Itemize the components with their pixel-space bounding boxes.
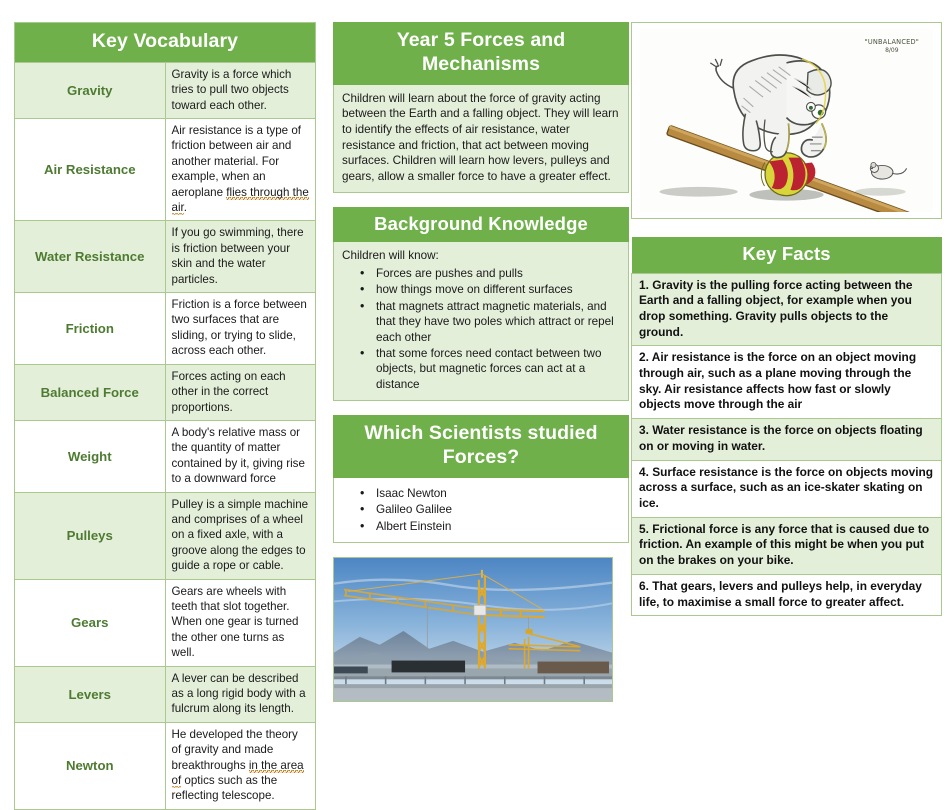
vocab-term: Levers	[15, 666, 166, 722]
list-item: Galileo Galilee	[376, 502, 620, 517]
list-item: Forces are pushes and pulls	[376, 266, 620, 281]
fact-item: 6. That gears, levers and pulleys help, …	[632, 574, 942, 615]
facts-heading: Key Facts	[632, 237, 942, 273]
tower-cranes-photo	[333, 557, 613, 702]
table-row: Air Resistance Air resistance is a type …	[15, 119, 316, 221]
vocab-definition: Forces acting on each other in the corre…	[165, 364, 316, 420]
vocab-definition-tail: .	[184, 201, 187, 214]
background-body: Children will know: Forces are pushes an…	[333, 242, 629, 401]
crane-illustration	[334, 558, 612, 701]
vocab-term: Gears	[15, 579, 166, 666]
vocab-definition: Gears are wheels with teeth that slot to…	[165, 579, 316, 666]
table-row: Friction Friction is a force between two…	[15, 293, 316, 365]
table-row: 4. Surface resistance is the force on ob…	[632, 460, 942, 517]
vocab-definition: A lever can be described as a long rigid…	[165, 666, 316, 722]
vocab-term: Friction	[15, 293, 166, 365]
background-heading: Background Knowledge	[333, 207, 629, 243]
vocab-term: Water Resistance	[15, 221, 166, 293]
scientists-box: Which Scientists studied Forces? Isaac N…	[333, 415, 629, 543]
vocab-term: Gravity	[15, 62, 166, 118]
cartoon-caption: "UNBALANCED" 8/09	[865, 38, 919, 55]
scientists-list: Isaac Newton Galileo Galilee Albert Eins…	[342, 486, 620, 534]
vocab-definition: Air resistance is a type of friction bet…	[165, 119, 316, 221]
table-row: 6. That gears, levers and pulleys help, …	[632, 574, 942, 615]
vocab-definition: Gravity is a force which tries to pull t…	[165, 62, 316, 118]
vocab-definition: If you go swimming, there is friction be…	[165, 221, 316, 293]
vocab-definition: A body's relative mass or the quantity o…	[165, 420, 316, 492]
list-item: Albert Einstein	[376, 519, 620, 534]
table-row: Levers A lever can be described as a lon…	[15, 666, 316, 722]
vocab-term: Newton	[15, 722, 166, 809]
unbalanced-lever-cartoon: "UNBALANCED" 8/09	[631, 22, 942, 219]
table-row: Weight A body's relative mass or the qua…	[15, 420, 316, 492]
table-row: Gears Gears are wheels with teeth that s…	[15, 579, 316, 666]
fact-item: 3. Water resistance is the force on obje…	[632, 419, 942, 460]
vocab-term: Air Resistance	[15, 119, 166, 221]
vocabulary-heading: Key Vocabulary	[15, 23, 315, 62]
table-row: 5. Frictional force is any force that is…	[632, 517, 942, 574]
list-item: Isaac Newton	[376, 486, 620, 501]
facts-header-row: Key Facts	[632, 237, 942, 273]
scientists-heading: Which Scientists studied Forces?	[333, 415, 629, 478]
column-right: "UNBALANCED" 8/09 Key Facts 1. Gravity i…	[629, 0, 947, 657]
list-item: that some forces need contact between tw…	[376, 346, 620, 392]
vocab-definition: Friction is a force between two surfaces…	[165, 293, 316, 365]
key-vocabulary-table: Key Vocabulary Gravity Gravity is a forc…	[14, 22, 316, 810]
vocab-term: Weight	[15, 420, 166, 492]
table-row: 2. Air resistance is the force on an obj…	[632, 346, 942, 419]
table-row: Gravity Gravity is a force which tries t…	[15, 62, 316, 118]
table-row: 3. Water resistance is the force on obje…	[632, 419, 942, 460]
fact-item: 2. Air resistance is the force on an obj…	[632, 346, 942, 419]
fact-item: 5. Frictional force is any force that is…	[632, 517, 942, 574]
list-item: that magnets attract magnetic materials,…	[376, 299, 620, 345]
table-row: Pulleys Pulley is a simple machine and c…	[15, 492, 316, 579]
vocab-term: Pulleys	[15, 492, 166, 579]
crane-photo-canvas	[334, 558, 612, 701]
overview-body: Children will learn about the force of g…	[333, 85, 629, 193]
table-row: Water Resistance If you go swimming, the…	[15, 221, 316, 293]
fact-item: 4. Surface resistance is the force on ob…	[632, 460, 942, 517]
scientists-body: Isaac Newton Galileo Galilee Albert Eins…	[333, 478, 629, 543]
vocab-definition: He developed the theory of gravity and m…	[165, 722, 316, 809]
knowledge-organiser-page: Key Vocabulary Gravity Gravity is a forc…	[0, 0, 947, 657]
list-item: how things move on different surfaces	[376, 282, 620, 297]
table-row: Balanced Force Forces acting on each oth…	[15, 364, 316, 420]
background-lead: Children will know:	[342, 248, 620, 264]
overview-text: Children will learn about the force of g…	[342, 91, 620, 185]
overview-heading: Year 5 Forces and Mechanisms	[333, 22, 629, 85]
table-row: Newton He developed the theory of gravit…	[15, 722, 316, 809]
vocab-term: Balanced Force	[15, 364, 166, 420]
background-knowledge-box: Background Knowledge Children will know:…	[333, 207, 629, 402]
table-row: 1. Gravity is the pulling force acting b…	[632, 273, 942, 346]
background-list: Forces are pushes and pulls how things m…	[342, 266, 620, 393]
vocabulary-header-row: Key Vocabulary	[15, 23, 316, 63]
fact-item: 1. Gravity is the pulling force acting b…	[632, 273, 942, 346]
vocab-definition: Pulley is a simple machine and comprises…	[165, 492, 316, 579]
column-vocabulary: Key Vocabulary Gravity Gravity is a forc…	[0, 0, 316, 657]
vocab-definition-tail: optics such as the reflecting telescope.	[172, 774, 278, 802]
elephant-seesaw-illustration	[640, 29, 933, 212]
overview-box: Year 5 Forces and Mechanisms Children wi…	[333, 22, 629, 193]
cartoon-canvas: "UNBALANCED" 8/09	[640, 29, 933, 212]
column-middle: Year 5 Forces and Mechanisms Children wi…	[316, 0, 629, 657]
key-facts-table: Key Facts 1. Gravity is the pulling forc…	[631, 237, 942, 616]
cartoon-caption-title: "UNBALANCED"	[865, 38, 919, 46]
cartoon-caption-date: 8/09	[865, 47, 919, 55]
